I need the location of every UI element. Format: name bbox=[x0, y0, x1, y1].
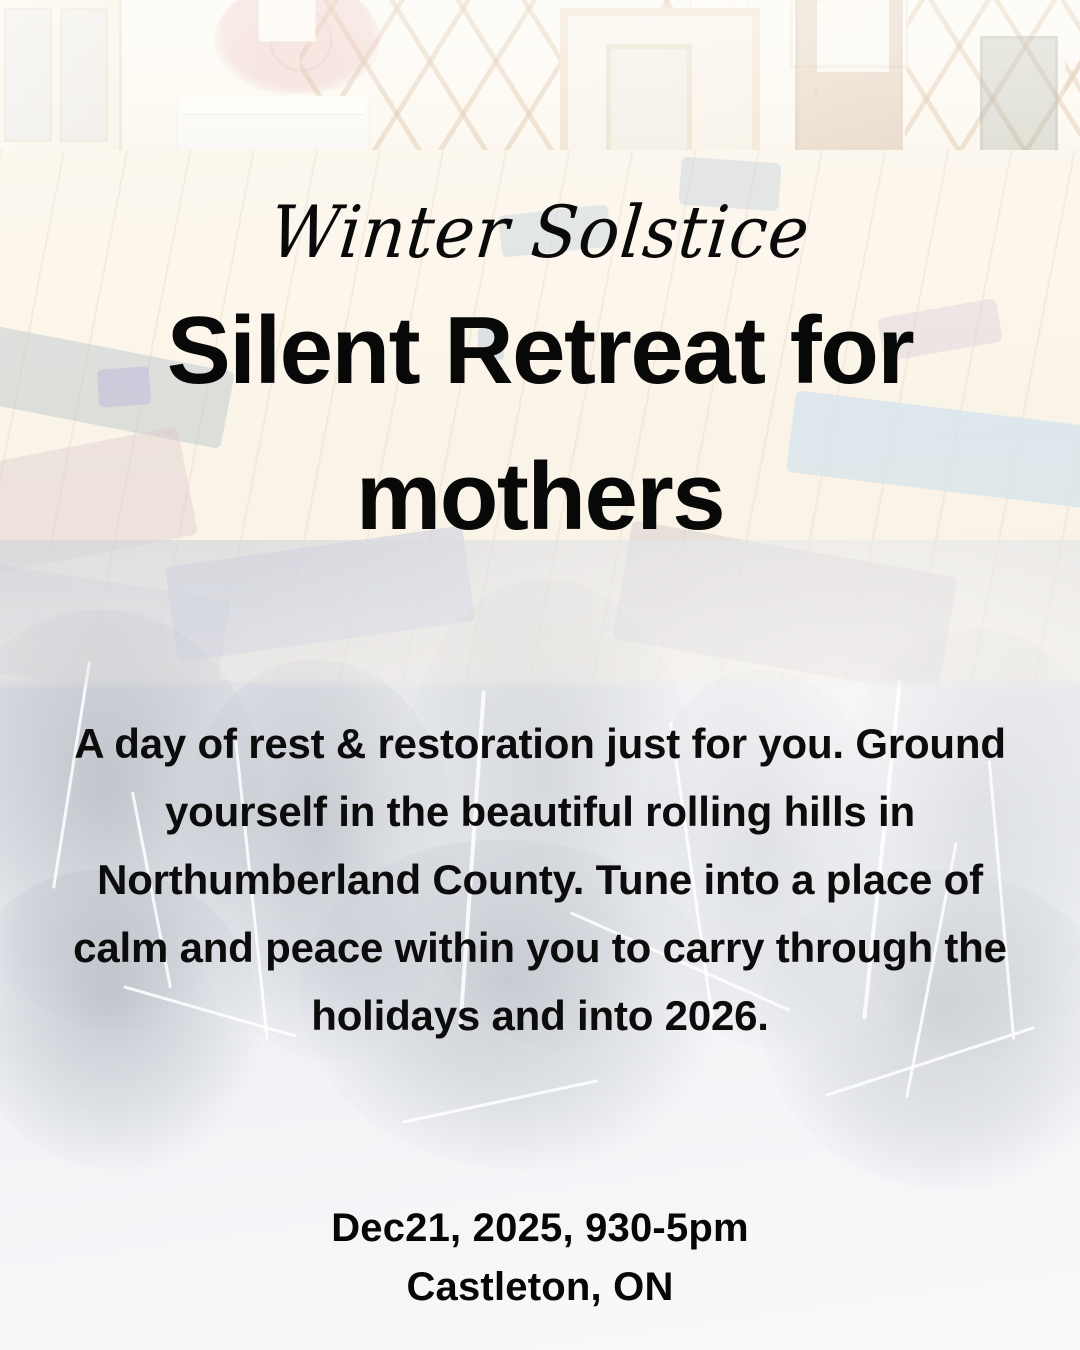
event-poster: Winter Solstice Silent Retreat for mothe… bbox=[0, 0, 1080, 1350]
event-date-time: Dec21, 2025, 930-5pm bbox=[0, 1200, 1080, 1257]
eyebrow-script-title: Winter Solstice bbox=[29, 196, 1051, 268]
event-details: Dec21, 2025, 930-5pm Castleton, ON bbox=[0, 1200, 1080, 1316]
poster-content: Winter Solstice Silent Retreat for mothe… bbox=[0, 0, 1080, 1350]
event-location: Castleton, ON bbox=[0, 1259, 1080, 1316]
description-text: A day of rest & restoration just for you… bbox=[64, 710, 1016, 1050]
page-title: Silent Retreat for mothers bbox=[56, 278, 1024, 570]
